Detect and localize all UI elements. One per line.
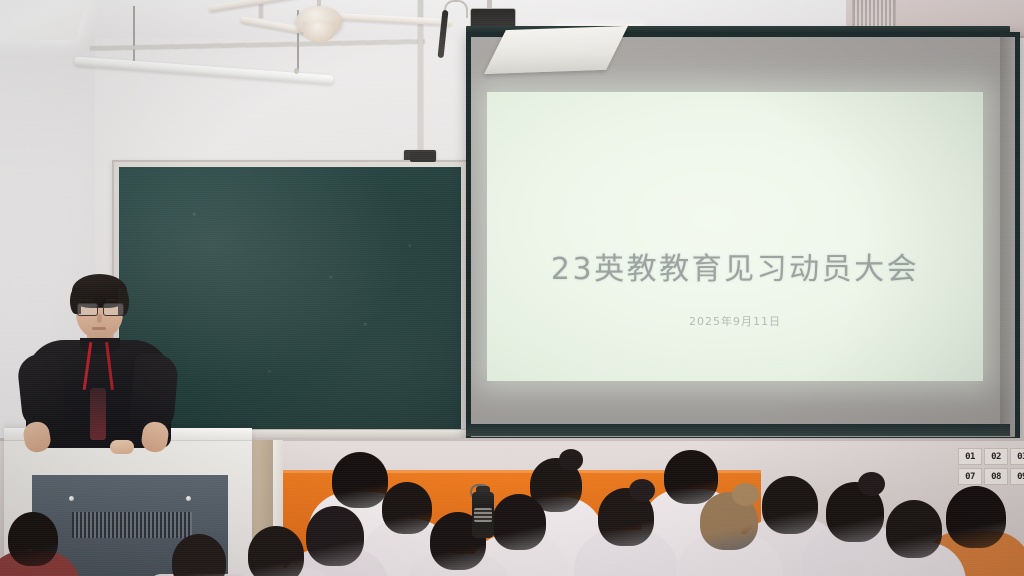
presenter-collar bbox=[80, 338, 120, 354]
audience-head bbox=[8, 512, 58, 566]
fan-cap bbox=[303, 22, 335, 42]
audience-head bbox=[946, 486, 1006, 548]
projection-screen[interactable]: 23英教教育见习动员大会 2025年9月11日 bbox=[466, 32, 1020, 442]
presenter-nose bbox=[97, 314, 102, 323]
presenter-eyebrow-left bbox=[79, 299, 93, 301]
audience-head bbox=[492, 494, 546, 550]
audience-head bbox=[886, 500, 942, 558]
audience-head bbox=[172, 534, 226, 576]
projected-slide: 23英教教育见习动员大会 2025年9月11日 bbox=[487, 92, 983, 381]
bottle-label bbox=[474, 508, 492, 522]
glasses-icon bbox=[77, 303, 122, 314]
audience-hair-bun bbox=[629, 479, 655, 502]
audience-head bbox=[762, 476, 818, 534]
screen-shadow bbox=[1000, 32, 1014, 436]
audience-hair-bun bbox=[732, 483, 759, 506]
audience-hair-bun bbox=[858, 472, 885, 496]
seated-student-audience bbox=[0, 430, 1024, 576]
glasses-bridge bbox=[96, 307, 103, 308]
ceiling-light-panel bbox=[0, 0, 88, 40]
wall-sensor-device bbox=[410, 152, 436, 162]
presenter-sleeve-left bbox=[16, 352, 68, 432]
slide-title: 23英教教育见习动员大会 bbox=[487, 244, 983, 288]
audience-hair-bun bbox=[559, 449, 583, 471]
audience-head bbox=[664, 450, 718, 504]
glasses-lens-left bbox=[77, 303, 98, 316]
audience-head bbox=[248, 526, 304, 576]
audience-head bbox=[306, 506, 364, 566]
audience-head bbox=[332, 452, 388, 508]
classroom-photo-scene: 23英教教育见习动员大会 2025年9月11日 01 02 03 07 08 0… bbox=[0, 0, 1024, 576]
audience-head bbox=[382, 482, 432, 534]
glasses-lens-right bbox=[103, 303, 124, 316]
ceiling-light-reflector bbox=[484, 26, 628, 74]
presenter-mouth bbox=[92, 327, 106, 330]
tube-light-hanger bbox=[133, 6, 135, 68]
presenter-eyebrow-right bbox=[106, 299, 120, 301]
slide-date: 2025年9月11日 bbox=[487, 313, 983, 329]
fan-pull-chain[interactable] bbox=[297, 36, 299, 70]
fan-pull-knob[interactable] bbox=[294, 68, 299, 74]
